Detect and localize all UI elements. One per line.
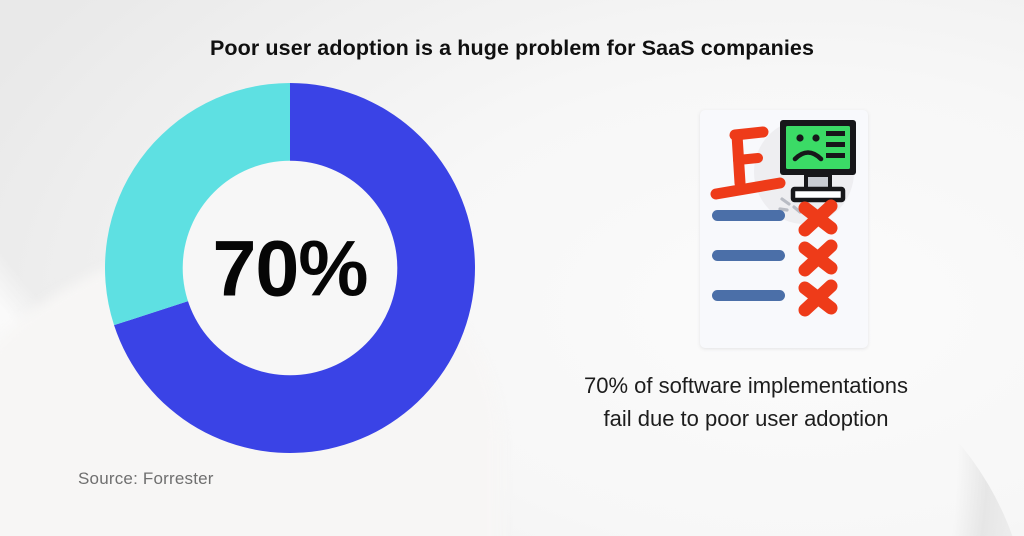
checklist-line-1 <box>712 210 785 221</box>
checklist-line-3 <box>712 290 785 301</box>
cross-mark-2 <box>805 246 831 270</box>
cross-mark-1 <box>805 206 831 230</box>
chart-source-label: Source: Forrester <box>78 469 214 489</box>
page-title: Poor user adoption is a huge problem for… <box>0 36 1024 61</box>
donut-hole <box>183 161 398 376</box>
checklist-rows <box>712 210 785 301</box>
monitor-eye-left <box>796 134 803 141</box>
caption-line-1: 70% of software implementations <box>532 370 960 403</box>
illustration-svg <box>700 110 868 348</box>
cross-marks <box>805 206 831 310</box>
caption-line-2: fail due to poor user adoption <box>532 403 960 436</box>
illustration-caption: 70% of software implementations fail due… <box>532 370 960 435</box>
infographic-canvas: Poor user adoption is a huge problem for… <box>0 0 1024 536</box>
donut-chart-svg <box>105 83 475 453</box>
monitor-eye-right <box>812 134 819 141</box>
checklist-line-2 <box>712 250 785 261</box>
donut-chart: 70% <box>105 83 475 453</box>
failed-report-card-illustration <box>700 110 868 348</box>
cross-mark-3 <box>805 286 831 310</box>
